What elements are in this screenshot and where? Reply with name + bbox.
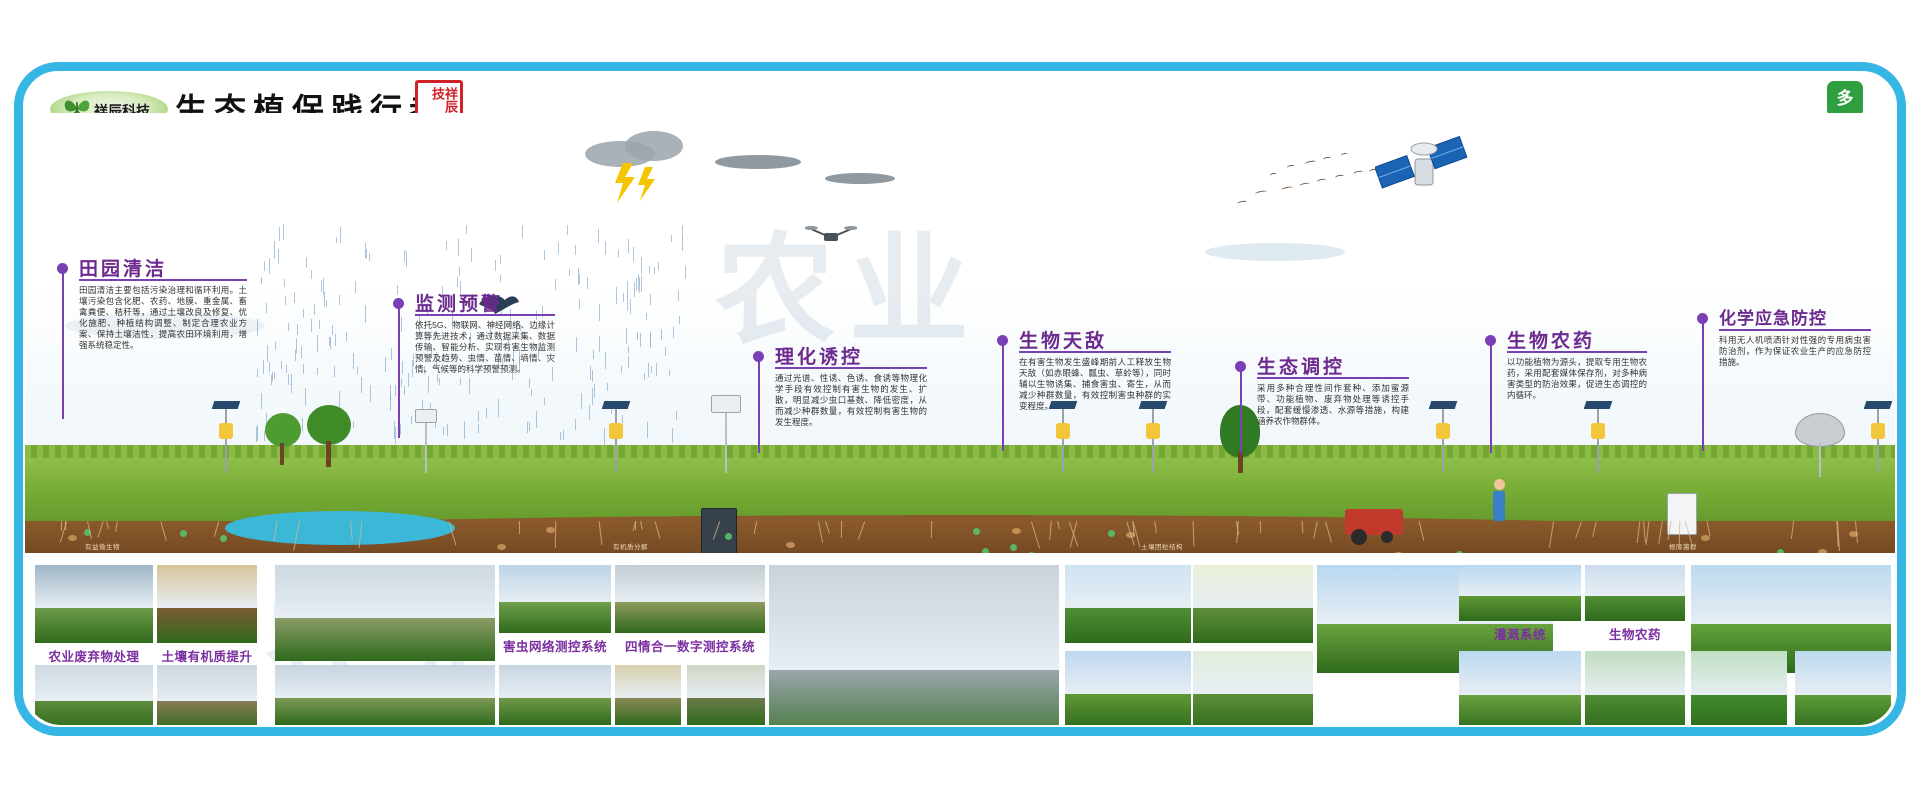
- rain-drop: [563, 430, 564, 440]
- rain-drop: [428, 376, 429, 393]
- photo-dish[interactable]: [615, 565, 765, 633]
- rain-drop: [284, 279, 285, 287]
- section-underline: [1719, 329, 1871, 331]
- rain-drop: [599, 304, 600, 321]
- photo-spray[interactable]: [1065, 565, 1191, 643]
- rain-drop: [651, 366, 652, 373]
- rain-drop: [529, 378, 530, 388]
- rain-drop: [397, 285, 398, 295]
- section-underline: [1019, 351, 1171, 353]
- tree-trunk: [1238, 451, 1243, 473]
- rain-drop: [527, 422, 528, 433]
- rain-drop: [682, 225, 683, 240]
- rain-drop: [385, 357, 386, 372]
- cloud-shape: [1205, 243, 1345, 261]
- monitor-device: [711, 395, 741, 413]
- rain-drop: [618, 250, 619, 257]
- rain-drop: [395, 385, 396, 396]
- rain-drop: [408, 373, 409, 387]
- photo-sky: [1193, 651, 1313, 694]
- photo-lamp[interactable]: [769, 565, 1059, 725]
- lamp-solar-panel: [602, 401, 631, 409]
- photo-rodent[interactable]: [687, 665, 765, 725]
- tree-crown: [307, 405, 351, 445]
- lamp-head: [219, 423, 233, 439]
- illustration-scene: 农业 有益微生物微生物菌群蚯蚓活动有机质分解根系吸收保水保肥土壤团粒结构养分循环…: [25, 113, 1895, 553]
- rain-drop: [361, 377, 362, 393]
- underground-label: 有机质分解: [613, 541, 648, 551]
- rain-drop: [365, 305, 366, 323]
- rain-drop: [522, 225, 523, 238]
- rain-drop: [272, 372, 273, 381]
- rain-drop: [339, 391, 340, 408]
- rain-drop: [443, 427, 444, 435]
- rain-drop: [627, 295, 628, 311]
- rain-drop: [269, 258, 270, 274]
- lamp-head: [1146, 423, 1160, 439]
- photo-ground: [35, 608, 153, 643]
- lamp-solar-panel: [1429, 401, 1458, 409]
- rain-drop: [589, 405, 590, 420]
- microbe-dot: [180, 530, 187, 537]
- rain-drop: [266, 303, 267, 313]
- photo-sky: [1459, 565, 1581, 596]
- rain-drop: [575, 419, 576, 430]
- rain-drop: [661, 329, 662, 340]
- goose-icon: [1281, 186, 1293, 192]
- goose-icon: [1237, 200, 1248, 206]
- rain-drop: [641, 257, 642, 274]
- rain-drop: [279, 227, 280, 241]
- lamp-pole: [1877, 409, 1879, 473]
- photo-sky: [615, 565, 765, 602]
- rain-drop: [544, 398, 545, 405]
- section-title: 监测预警: [415, 289, 503, 316]
- section-underline: [415, 314, 555, 316]
- rain-drop: [395, 427, 396, 444]
- rain-drop: [263, 360, 264, 374]
- soil-particle: [546, 527, 555, 533]
- rain-drop: [669, 370, 670, 376]
- goose-icon: [1341, 152, 1349, 157]
- solar-insect-lamp: [1585, 401, 1611, 473]
- rain-drop: [592, 370, 593, 382]
- microbe-dot: [982, 548, 989, 553]
- lamp-pole: [1597, 409, 1599, 473]
- rain-drop: [303, 309, 304, 318]
- satellite-dish-icon: [1795, 413, 1845, 447]
- rain-drop: [478, 411, 479, 422]
- section-title: 田园清洁: [79, 254, 167, 281]
- section-stem-line: [1002, 345, 1004, 451]
- goose-icon: [1317, 178, 1327, 184]
- rain-drop: [639, 277, 640, 293]
- rain-drop: [278, 249, 279, 264]
- photo-sky: [499, 565, 611, 602]
- photo-ground: [769, 670, 1059, 726]
- photo-ground: [1795, 695, 1891, 725]
- photo-sky: [35, 665, 153, 701]
- microbe-dot: [220, 535, 227, 542]
- rain-drop: [558, 242, 559, 254]
- goose-icon: [1287, 164, 1295, 170]
- rain-drop: [500, 275, 501, 282]
- rain-drop: [685, 266, 686, 279]
- rain-drop: [288, 374, 289, 385]
- section-body-text: 采用多种合理性间作套种、添加蜜源带、功能植物、废弃物处理等诱控手段，配套缓慢渗透…: [1257, 383, 1409, 427]
- rain-drop: [576, 337, 577, 352]
- section-stem-line: [1240, 371, 1242, 453]
- photo-signboard[interactable]: [35, 565, 153, 643]
- rain-drop: [303, 364, 304, 374]
- farmer-head: [1494, 479, 1505, 490]
- rain-drop: [317, 368, 318, 375]
- solar-insect-lamp: [1865, 401, 1891, 473]
- rain-drop: [305, 388, 306, 406]
- tractor-wheel: [1351, 529, 1367, 545]
- photo-caption: 土壤有机质提升: [157, 646, 257, 665]
- soil-particle: [1818, 549, 1827, 553]
- rain-drop: [648, 363, 649, 377]
- rain-drop: [369, 253, 370, 261]
- photo-station[interactable]: [275, 565, 495, 661]
- photo-sky: [687, 665, 765, 698]
- photo-flower[interactable]: [1193, 565, 1313, 643]
- watermark: 农业: [715, 193, 983, 367]
- photo-sky: [499, 665, 611, 698]
- rain-drop: [464, 421, 465, 439]
- photo-sky: [615, 665, 681, 698]
- photo-sticky[interactable]: [1065, 651, 1191, 725]
- rain-drop: [296, 338, 297, 353]
- soil-particle: [1394, 552, 1403, 553]
- photo-ground: [687, 698, 765, 725]
- rain-drop: [672, 428, 673, 443]
- rain-drop: [340, 227, 341, 243]
- rain-drop: [623, 293, 624, 302]
- rain-drop: [640, 333, 641, 347]
- rain-drop: [394, 421, 395, 439]
- rain-drop: [478, 424, 479, 433]
- monitor-device: [415, 409, 437, 423]
- section-title: 生物农药: [1507, 326, 1595, 353]
- rain-drop: [332, 325, 333, 335]
- rain-drop: [560, 432, 561, 440]
- rain-drop: [291, 384, 292, 393]
- section-body-text: 在有害生物发生盛峰期前人工释放生物天敌（如赤眼蜂、瓢虫、草蛉等），同时辅以生物诱…: [1019, 357, 1171, 412]
- rain-drop: [291, 374, 292, 385]
- photo-caption: 四情合一数字测控系统: [615, 636, 765, 655]
- goose-icon: [1270, 172, 1278, 177]
- photo-sky: [1585, 651, 1685, 695]
- rain-drop: [334, 366, 335, 377]
- rain-drop: [404, 386, 405, 395]
- section-body-text: 以功能植物为源头，提取专用生物农药，采用配套媒体保存剂，对多种病害类型的防治效果…: [1507, 357, 1647, 401]
- rain-drop: [400, 424, 401, 435]
- rain-drop: [413, 354, 414, 366]
- root-strand: [519, 521, 520, 534]
- rain-drop: [637, 332, 638, 340]
- rain-drop: [650, 335, 651, 348]
- rain-drop: [404, 250, 405, 262]
- poster-content: 祥辰科技 生态植保践行者 祥辰科技 多 植信通: [25, 73, 1895, 725]
- rain-drop: [644, 373, 645, 380]
- rain-drop: [457, 277, 458, 287]
- rain-drop: [486, 408, 487, 418]
- photo-sky: [1459, 651, 1581, 695]
- microbe-dot: [1456, 551, 1463, 553]
- photo-sky: [1065, 565, 1191, 608]
- rain-drop: [569, 269, 570, 276]
- rain-drop: [536, 411, 537, 428]
- goose-icon: [1299, 182, 1311, 188]
- section-body-text: 科用无人机喷洒针对性强的专用病虫害防治剂，作为保证农业生产的应急防控措施。: [1719, 335, 1871, 368]
- tractor-wheel: [1381, 531, 1393, 543]
- poster-root: 祥辰科技 生态植保践行者 祥辰科技 多 植信通: [0, 0, 1920, 800]
- rain-drop: [346, 332, 347, 341]
- rain-drop: [355, 281, 356, 293]
- cloud-shape: [625, 131, 683, 161]
- microbe-dot: [973, 528, 980, 535]
- rain-drop: [646, 313, 647, 320]
- rain-drop: [592, 388, 593, 405]
- rain-drop: [269, 362, 270, 372]
- brand-badge-icon: 多: [1827, 81, 1863, 117]
- rain-drop: [411, 416, 412, 424]
- underground-label: 根际菌群: [1669, 541, 1697, 551]
- rain-drop: [673, 327, 674, 338]
- rain-drop: [446, 241, 447, 250]
- rain-drop: [261, 277, 262, 284]
- photo-ground: [1459, 596, 1581, 621]
- solar-insect-lamp: [603, 401, 629, 473]
- rain-drop: [542, 306, 543, 318]
- rain-drop: [628, 356, 629, 368]
- photo-ground: [615, 602, 765, 633]
- rain-drop: [676, 411, 677, 420]
- section-stem-line: [62, 273, 64, 419]
- photo-caption: 生物农药: [1585, 624, 1685, 643]
- rain-drop: [579, 299, 580, 309]
- rain-drop: [271, 375, 272, 385]
- photo-film[interactable]: [157, 665, 257, 725]
- rain-drop: [261, 393, 262, 409]
- photo-helicopter[interactable]: [1795, 651, 1891, 725]
- photo-ferment[interactable]: [35, 665, 153, 725]
- rain-drop: [301, 346, 302, 358]
- rain-drop: [357, 367, 358, 374]
- photo-target[interactable]: [615, 665, 681, 725]
- rain-drop: [257, 319, 258, 336]
- pond-shape: [225, 511, 455, 545]
- rain-drop: [628, 239, 629, 253]
- photo-sky: [157, 565, 257, 608]
- rain-drop: [471, 248, 472, 262]
- photo-ground: [1065, 608, 1191, 643]
- lamp-pole: [1152, 409, 1154, 473]
- rain-drop: [294, 292, 295, 303]
- section-stem-line: [398, 308, 400, 438]
- lightning-icon: [605, 161, 665, 205]
- satellite-icon: [1375, 123, 1471, 219]
- photo-sky: [1065, 651, 1191, 694]
- photo-device[interactable]: [499, 565, 611, 633]
- lamp-head: [609, 423, 623, 439]
- underground-label: 有益微生物: [85, 541, 120, 551]
- photo-intercrop[interactable]: [1585, 651, 1685, 725]
- rain-drop: [469, 378, 470, 394]
- field-robot: [1667, 493, 1697, 535]
- rain-drop: [264, 261, 265, 271]
- rain-drop: [311, 319, 312, 332]
- rain-drop: [321, 280, 322, 292]
- section-body-text: 通过光谱、性诱、色诱、食诱等物理化学手段有效控制有害生物的发生、扩散，明显减少虫…: [775, 373, 927, 428]
- rain-drop: [274, 241, 275, 259]
- photo-sky: [275, 565, 495, 618]
- rain-drop: [575, 245, 576, 255]
- photo-sky: [1795, 651, 1891, 695]
- rain-drop: [555, 279, 556, 290]
- rain-drop: [353, 421, 354, 428]
- rain-drop: [598, 229, 599, 243]
- rain-drop: [495, 260, 496, 271]
- rain-drop: [587, 277, 588, 289]
- microbe-dot: [1108, 530, 1115, 537]
- rain-drop: [459, 267, 460, 276]
- photo-enemy[interactable]: [1193, 651, 1313, 725]
- rain-drop: [466, 225, 467, 234]
- rain-drop: [579, 274, 580, 284]
- photo-drone[interactable]: [1691, 651, 1787, 725]
- microbe-dot: [725, 533, 732, 540]
- rain-drop: [641, 276, 642, 292]
- microbe-dot: [1010, 544, 1017, 551]
- photo-sky: [769, 565, 1059, 670]
- photo-drone-bottle[interactable]: [1585, 565, 1685, 621]
- rain-drop: [317, 335, 318, 352]
- dish-pole: [1819, 443, 1821, 477]
- tree-trunk: [280, 443, 284, 465]
- rain-drop: [599, 336, 600, 352]
- rain-drop: [324, 292, 325, 306]
- photo-sky: [1193, 565, 1313, 608]
- photo-ground: [499, 602, 611, 633]
- rain-drop: [339, 295, 340, 305]
- rain-drop: [391, 348, 392, 360]
- rain-drop: [594, 384, 595, 398]
- soil-particle: [786, 542, 795, 548]
- rain-drop: [636, 278, 637, 291]
- section-underline: [79, 279, 247, 281]
- photo-soil[interactable]: [157, 565, 257, 643]
- rain-drop: [621, 366, 622, 373]
- rain-drop: [500, 255, 501, 264]
- lamp-head: [1436, 423, 1450, 439]
- photo-caption: 灌溉系统: [1459, 624, 1581, 643]
- rain-drop: [366, 249, 367, 259]
- rain-drop: [647, 422, 648, 438]
- rain-drop: [626, 328, 627, 344]
- photo-ground: [1193, 694, 1313, 725]
- rain-drop: [605, 352, 606, 369]
- cloud-shape: [825, 173, 895, 184]
- microbe-dot: [1777, 549, 1784, 553]
- rain-drop: [257, 369, 258, 377]
- section-body-text: 依托5G、物联网、神经网络、边缘计算等先进技术，通过数据采集、数据传输、智能分析…: [415, 320, 555, 375]
- rain-drop: [634, 282, 635, 297]
- rain-drop: [567, 225, 568, 235]
- lamp-pole: [615, 409, 617, 473]
- photo-5g[interactable]: [275, 665, 495, 725]
- rain-drop: [275, 342, 276, 350]
- photo-caption: 害虫网络测控系统: [499, 636, 611, 655]
- solar-insect-lamp: [213, 401, 239, 473]
- lamp-head: [1056, 423, 1070, 439]
- rain-drop: [370, 385, 371, 402]
- rain-drop: [390, 394, 391, 411]
- rain-drop: [297, 324, 298, 335]
- rain-drop: [401, 317, 402, 332]
- rain-drop: [531, 389, 532, 396]
- rain-drop: [630, 299, 631, 314]
- lamp-solar-panel: [212, 401, 241, 409]
- photo-shelterbelt[interactable]: [1459, 651, 1581, 725]
- rain-drop: [650, 294, 651, 305]
- rain-drop: [267, 345, 268, 362]
- section-stem-line: [1702, 323, 1704, 451]
- rain-drop: [311, 270, 312, 279]
- section-body-text: 田园清洁主要包括污染治理和循环利用。土壤污染包含化肥、农药、地膜、重金属、畜禽粪…: [79, 285, 247, 351]
- rain-drop: [654, 267, 655, 274]
- rain-drop: [319, 320, 320, 329]
- rain-drop: [326, 300, 327, 307]
- rain-drop: [529, 422, 530, 431]
- photo-sky: [157, 665, 257, 701]
- rain-drop: [302, 418, 303, 431]
- rain-drop: [671, 235, 672, 242]
- goose-icon: [1353, 170, 1364, 176]
- rain-drop: [607, 383, 608, 391]
- lamp-solar-panel: [1864, 401, 1893, 409]
- rain-drop: [544, 250, 545, 260]
- rain-drop: [288, 323, 289, 331]
- photo-caption: 农业废弃物处理: [35, 646, 153, 665]
- rain-drop: [274, 372, 275, 379]
- photo-ground: [1691, 695, 1787, 725]
- photo-ground: [1193, 608, 1313, 643]
- photo-ground: [499, 698, 611, 725]
- photo-ground: [1585, 695, 1685, 725]
- rain-drop: [285, 296, 286, 305]
- rain-drop: [314, 304, 315, 315]
- rain-drop: [581, 393, 582, 409]
- photo-spore[interactable]: [499, 665, 611, 725]
- lamp-head: [1871, 423, 1885, 439]
- rain-drop: [401, 378, 402, 387]
- photo-ground: [157, 608, 257, 643]
- solar-insect-lamp: [1430, 401, 1456, 473]
- rain-drop: [402, 361, 403, 374]
- section-stem-line: [758, 361, 760, 453]
- rain-drop: [281, 361, 282, 369]
- root-strand: [61, 521, 62, 531]
- photo-ground: [157, 701, 257, 725]
- goose-icon: [1323, 156, 1332, 162]
- rain-drop: [335, 334, 336, 346]
- photo-irrigation[interactable]: [1459, 565, 1581, 621]
- section-title: 生态调控: [1257, 352, 1345, 379]
- goose-icon: [1255, 190, 1268, 196]
